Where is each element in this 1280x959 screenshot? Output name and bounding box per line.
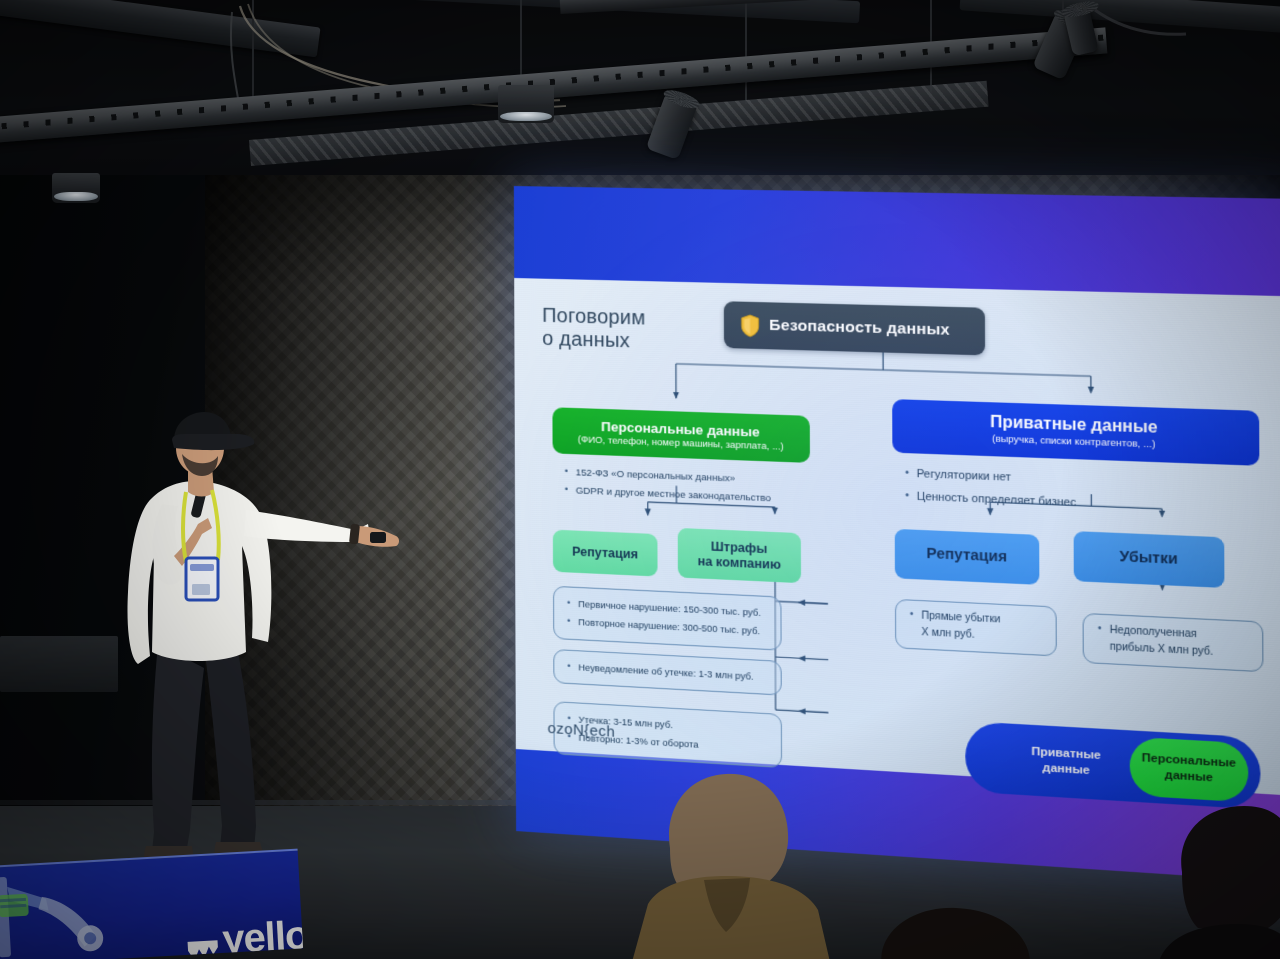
list-item: Неуведомление об утечке: 1-3 млн руб.	[566, 658, 768, 687]
shield-icon	[740, 313, 760, 337]
node-losses-label: Убытки	[1120, 549, 1178, 569]
detail-box-lost-profit: Недополученная прибыль Х млн руб.	[1083, 613, 1264, 672]
audience-member	[846, 896, 1066, 959]
slide-title-line1: Поговорим	[542, 305, 645, 331]
ceiling-duct-right	[960, 0, 1280, 34]
list-item: Недополученная прибыль Х млн руб.	[1097, 622, 1249, 663]
node-data-security: Безопасность данных	[724, 301, 985, 355]
conference-photo: Поговорим о данных	[0, 0, 1280, 959]
node-losses: Убытки	[1074, 531, 1225, 588]
node-company-fines: Штрафы на компанию	[678, 528, 801, 583]
detail-box-direct-losses: Прямые убытки Х млн руб.	[895, 599, 1057, 656]
personal-data-bullets: 152-ФЗ «О персональных данных» GDPR и др…	[563, 464, 771, 508]
slide-title-line2: о данных	[542, 328, 645, 354]
audience-member	[608, 752, 878, 959]
node-personal-data: Персональные данные (ФИО, телефон, номер…	[552, 407, 810, 463]
node-data-security-label: Безопасность данных	[769, 317, 950, 340]
node-reputation-personal: Репутация	[553, 530, 658, 577]
venn-inner-circle: Персональные данные	[1130, 737, 1249, 803]
node-reputation-private-label: Репутация	[926, 546, 1007, 567]
ceiling-duct-left	[0, 0, 321, 57]
robot-arm-illustration	[0, 866, 133, 959]
pendant-light	[498, 85, 554, 123]
speaker-person	[112, 406, 402, 876]
spotlight-cap	[662, 87, 702, 112]
venn-inner-label: Персональные данные	[1142, 751, 1237, 788]
list-item: Прямые убытки Х млн руб.	[909, 608, 1043, 647]
side-table	[0, 636, 118, 692]
venn-outer-label: Приватные данные	[1031, 745, 1101, 780]
ceiling-area	[0, 0, 1280, 175]
private-data-bullets: Регуляторики нет Ценность определяет биз…	[903, 462, 1076, 514]
ceiling-duct-rear	[200, 0, 860, 23]
audience-member	[1148, 800, 1280, 959]
node-private-data: Приватные данные (выручка, списки контра…	[892, 399, 1259, 466]
pendant-lens	[54, 192, 98, 201]
node-reputation-private: Репутация	[895, 529, 1040, 585]
detail-box-no-notification: Неуведомление об утечке: 1-3 млн руб.	[553, 649, 782, 696]
pendant-lens	[500, 112, 552, 121]
node-company-fines-label: Штрафы на компанию	[697, 539, 780, 573]
presentation-slide: Поговорим о данных	[514, 278, 1280, 797]
pendant-light	[52, 173, 100, 203]
node-reputation-personal-label: Репутация	[572, 544, 638, 562]
slide-title: Поговорим о данных	[542, 305, 645, 354]
hanger-rod	[745, 0, 747, 104]
detail-box-violation-fines: Первичное нарушение: 150-300 тыс. руб. П…	[553, 586, 782, 651]
stage-banner: yello	[0, 849, 303, 959]
